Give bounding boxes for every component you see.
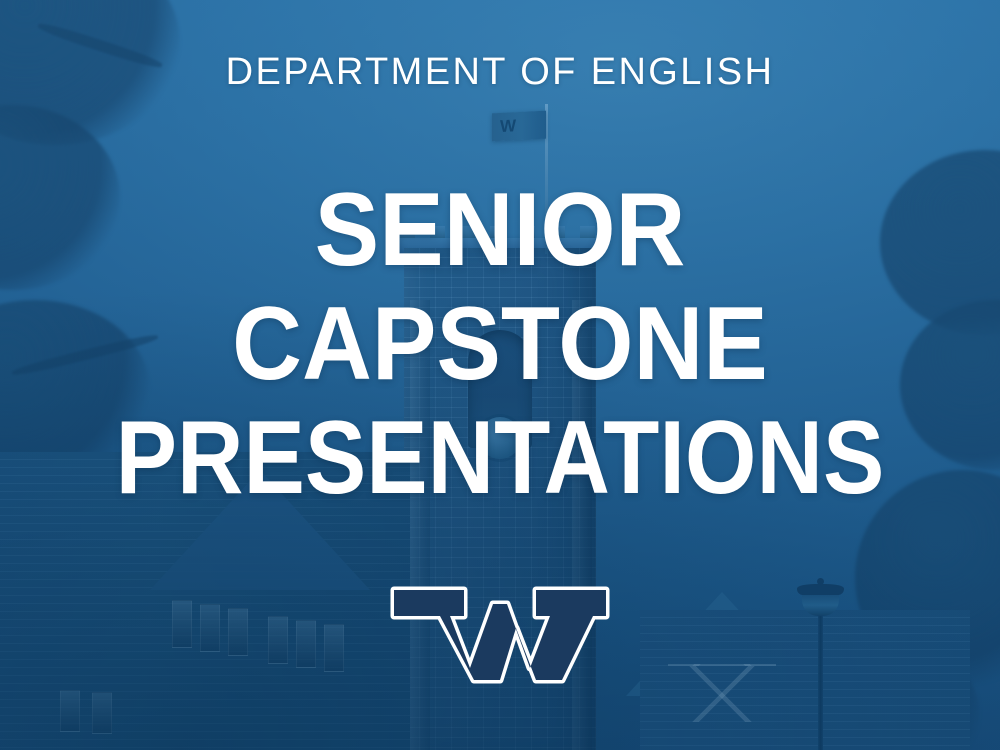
poster-content: DEPARTMENT OF ENGLISH SENIOR CAPSTONE PR… (0, 0, 1000, 750)
westminster-w-logo (390, 582, 610, 686)
poster-canvas: W DEPARTMENT OF ENGLISH SENIOR CAPSTONE … (0, 0, 1000, 750)
headline-line-senior: SENIOR (35, 178, 965, 282)
headline-line-capstone: CAPSTONE (35, 292, 965, 396)
w-logo-icon (390, 582, 610, 686)
department-eyebrow: DEPARTMENT OF ENGLISH (0, 50, 1000, 94)
headline-line-presentations: PRESENTATIONS (58, 406, 943, 510)
